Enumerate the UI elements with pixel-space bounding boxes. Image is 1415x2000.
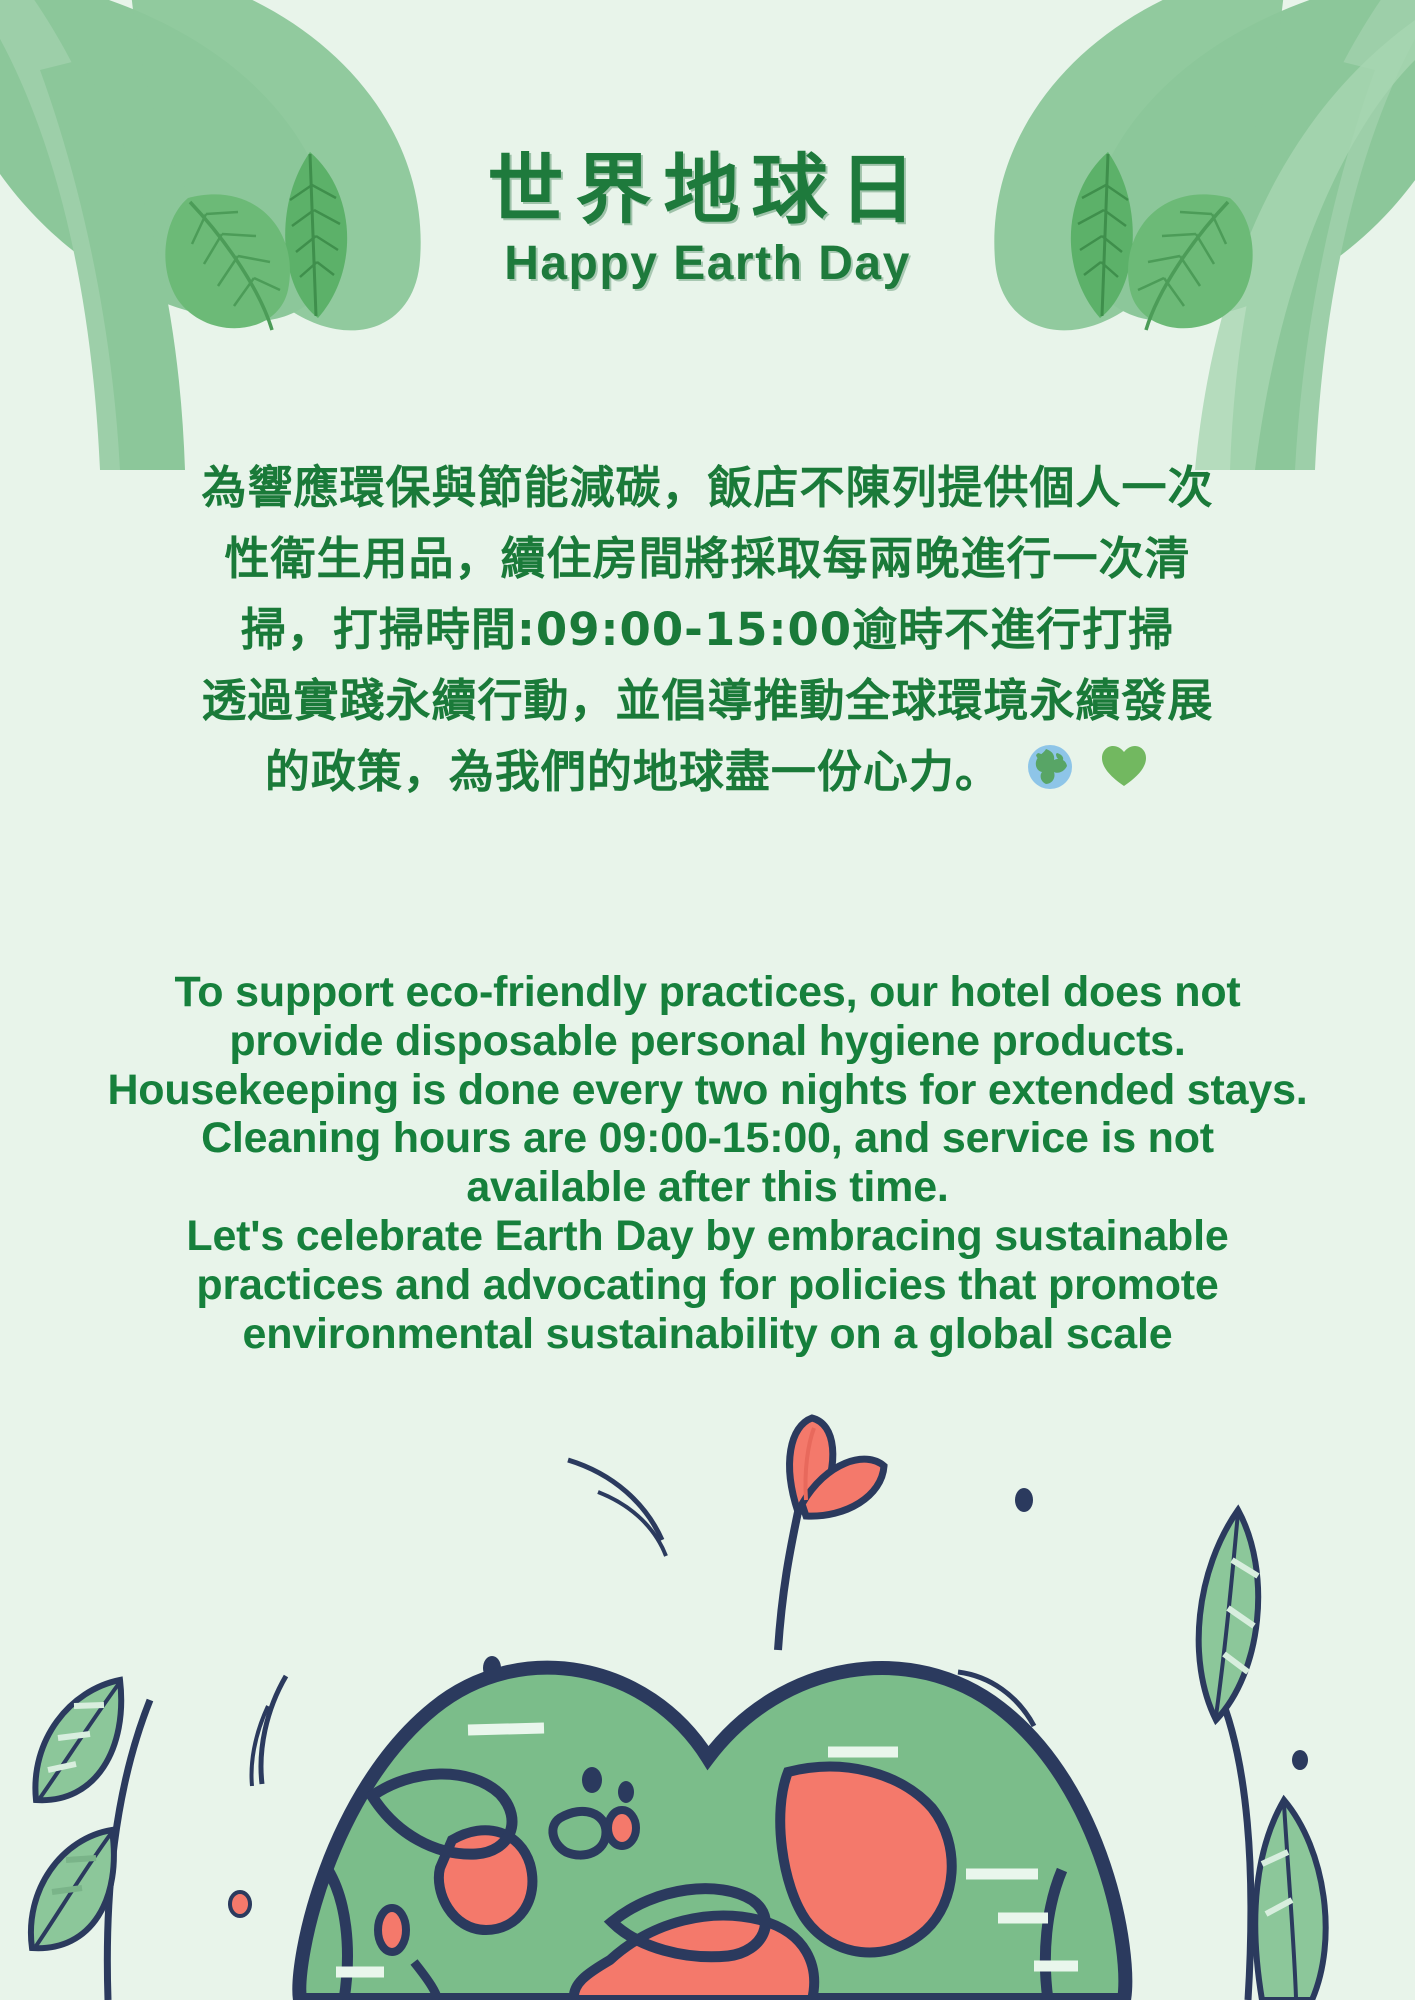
land-dot-dark-b: [618, 1781, 634, 1803]
chinese-line-1: 為響應環保與節能減碳，飯店不陳列提供個人一次: [40, 452, 1375, 523]
dot-dark-upper: [1015, 1488, 1033, 1512]
page-title-chinese: 世界地球日: [0, 150, 1415, 230]
plant-left: [31, 1680, 150, 2000]
chinese-line-5-text: 的政策，為我們的地球盡一份心力。: [265, 745, 1001, 798]
land-greenland-red: [439, 1830, 533, 1930]
heading-block: 世界地球日 Happy Earth Day: [0, 150, 1415, 291]
english-line-7: practices and advocating for policies th…: [40, 1261, 1375, 1310]
heart-sprout: [778, 1418, 884, 1650]
english-line-5: available after this time.: [40, 1163, 1375, 1212]
green-heart-icon: [1098, 741, 1150, 793]
chinese-line-5: 的政策，為我們的地球盡一份心力。: [40, 736, 1375, 807]
globe: [299, 1668, 1125, 2000]
chinese-line-4: 透過實踐永續行動，並倡導推動全球環境永續發展: [40, 665, 1375, 736]
earth-illustration: [0, 1400, 1415, 2000]
land-dot-dark-a: [582, 1767, 602, 1793]
page-title-english: Happy Earth Day: [0, 236, 1415, 291]
dot-red-left: [230, 1892, 250, 1916]
english-line-2: provide disposable personal hygiene prod…: [40, 1017, 1375, 1066]
dot-dark-right: [1292, 1750, 1308, 1770]
english-line-4: Cleaning hours are 09:00-15:00, and serv…: [40, 1114, 1375, 1163]
chinese-body-text: 為響應環保與節能減碳，飯店不陳列提供個人一次 性衛生用品，續住房間將採取每兩晚進…: [40, 452, 1375, 807]
english-line-3: Housekeeping is done every two nights fo…: [40, 1066, 1375, 1115]
land-dot-red-small: [378, 1908, 406, 1952]
english-line-8: environmental sustainability on a global…: [40, 1310, 1375, 1359]
english-line-1: To support eco-friendly practices, our h…: [40, 968, 1375, 1017]
english-line-6: Let's celebrate Earth Day by embracing s…: [40, 1212, 1375, 1261]
chinese-line-2: 性衛生用品，續住房間將採取每兩晚進行一次清: [40, 523, 1375, 594]
english-body-text: To support eco-friendly practices, our h…: [40, 968, 1375, 1358]
chinese-line-3: 掃，打掃時間:09:00-15:00逾時不進行打掃: [40, 594, 1375, 665]
land-dot-red-island: [608, 1810, 636, 1846]
globe-icon: [1024, 741, 1076, 793]
earth-day-poster: 世界地球日 Happy Earth Day 為響應環保與節能減碳，飯店不陳列提供…: [0, 0, 1415, 2000]
